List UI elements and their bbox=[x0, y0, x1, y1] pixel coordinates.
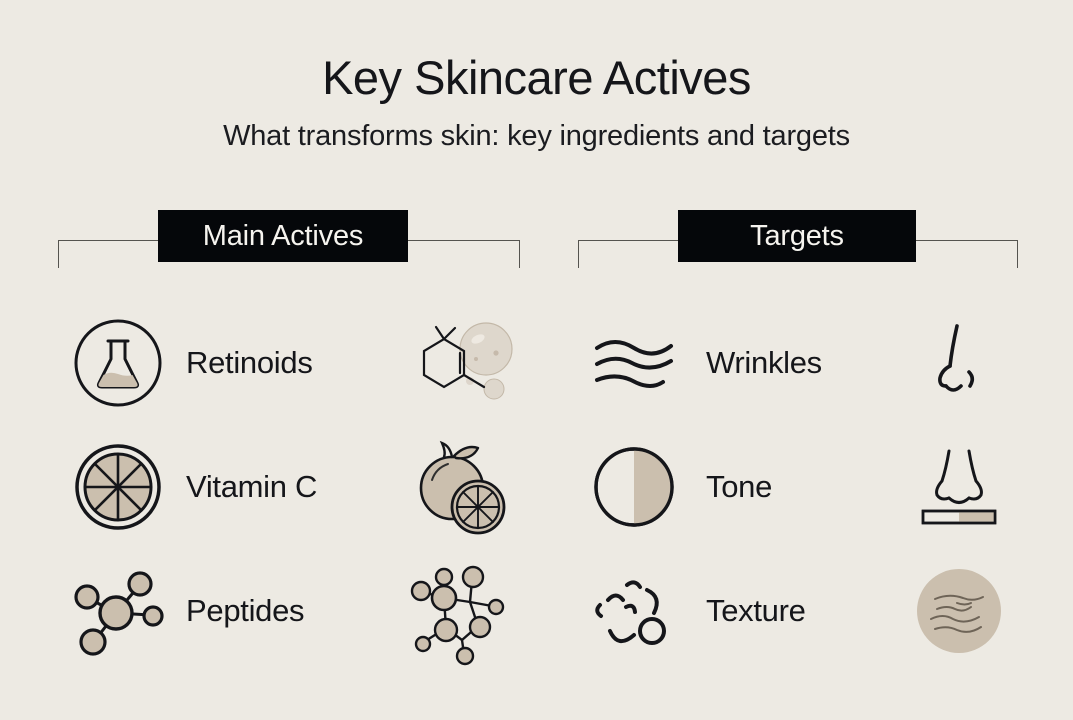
rows-main-actives: Retinoids bbox=[58, 301, 520, 673]
list-item[interactable]: Wrinkles bbox=[578, 301, 1018, 425]
list-item-label: Wrinkles bbox=[690, 345, 900, 381]
textured-circle-icon bbox=[900, 556, 1018, 666]
peptide-chain-structure-icon bbox=[402, 556, 520, 666]
page-title: Key Skincare Actives bbox=[0, 52, 1073, 104]
molecule-node-icon bbox=[58, 556, 178, 666]
list-item[interactable]: Tone bbox=[578, 425, 1018, 549]
list-item-label: Tone bbox=[690, 469, 900, 505]
page-subtitle: What transforms skin: key ingredients an… bbox=[0, 120, 1073, 153]
citrus-slice-icon bbox=[58, 432, 178, 542]
list-item-label: Retinoids bbox=[178, 345, 402, 381]
list-item[interactable]: Texture bbox=[578, 549, 1018, 673]
column-heading-chip-targets: Targets bbox=[678, 210, 916, 262]
column-main-actives: Main Actives Retinoids bbox=[58, 205, 520, 673]
column-header-targets: Targets bbox=[578, 205, 1018, 277]
list-item-label: Vitamin C bbox=[178, 469, 402, 505]
column-header-main-actives: Main Actives bbox=[58, 205, 520, 277]
half-filled-circle-icon bbox=[578, 432, 690, 542]
list-item[interactable]: Vitamin C bbox=[58, 425, 520, 549]
nose-with-tone-bar-icon bbox=[900, 432, 1018, 542]
infographic-canvas: Key Skincare Actives What transforms ski… bbox=[0, 0, 1073, 720]
orange-fruit-with-slice-icon bbox=[402, 432, 520, 542]
retinoid-molecule-structure-icon bbox=[402, 308, 520, 418]
list-item[interactable]: Peptides bbox=[58, 549, 520, 673]
nose-profile-icon bbox=[900, 308, 1018, 418]
wavy-lines-icon bbox=[578, 308, 690, 418]
column-targets: Targets Wrinkles bbox=[578, 205, 1018, 673]
list-item[interactable]: Retinoids bbox=[58, 301, 520, 425]
flask-in-circle-icon bbox=[58, 308, 178, 418]
list-item-label: Peptides bbox=[178, 593, 402, 629]
scattered-pores-icon bbox=[578, 556, 690, 666]
column-heading-chip-main-actives: Main Actives bbox=[158, 210, 408, 262]
rows-targets: Wrinkles bbox=[578, 301, 1018, 673]
list-item-label: Texture bbox=[690, 593, 900, 629]
